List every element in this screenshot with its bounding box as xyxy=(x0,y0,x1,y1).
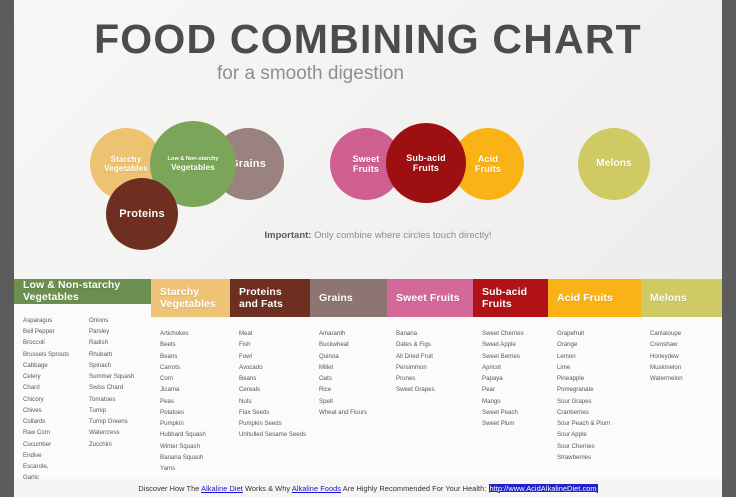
food-item: Cantaloupe xyxy=(650,328,722,339)
food-item: Unhulled Sesame Seeds xyxy=(239,429,310,440)
column-header-line1: Grains xyxy=(319,292,353,304)
footer-part3: Are Highly Recommended For Your Health: xyxy=(341,484,488,493)
column-header-starchy-vegetables: Starchy Vegetables xyxy=(151,279,230,317)
food-category-table: Low & Non-starchy Vegetables AsparagusBe… xyxy=(14,279,722,479)
column-header-melons: Melons xyxy=(641,279,722,317)
food-item: Nuts xyxy=(239,396,310,407)
food-item: Endive xyxy=(23,450,85,461)
food-item: Crenshaw xyxy=(650,339,722,350)
food-item: Carrots xyxy=(160,362,230,373)
food-list: GrapefruitOrangeLemonLimePineapplePomegr… xyxy=(557,328,641,463)
food-item: Honeydew xyxy=(650,351,722,362)
website-url-link[interactable]: http://www.AcidAlkalineDiet.com xyxy=(489,484,598,493)
circle-diagram: Starchy Vegetables Low & Non-starchy Veg… xyxy=(0,118,736,248)
food-item: Pomegranate xyxy=(557,384,641,395)
column-header-line1: Proteins xyxy=(239,286,282,298)
food-item: Lemon xyxy=(557,351,641,362)
column-body: Sweet CherriesSweet AppleSweet BerriesAp… xyxy=(473,317,548,479)
circle-label-line2: Vegetables xyxy=(168,163,219,172)
food-item: Cereals xyxy=(239,384,310,395)
food-item: Collards xyxy=(23,416,85,427)
food-item: Fowl xyxy=(239,351,310,362)
food-item: Lime xyxy=(557,362,641,373)
food-item: Beans xyxy=(160,351,230,362)
food-list: Sweet CherriesSweet AppleSweet BerriesAp… xyxy=(482,328,548,429)
column-body: CantaloupeCrenshawHoneydewMuskmelonWater… xyxy=(641,317,722,479)
circle-label-line2: Fruits xyxy=(353,164,379,174)
page-subtitle: for a smooth digestion xyxy=(0,63,736,85)
food-item: Spelt xyxy=(319,396,387,407)
food-item: Fish xyxy=(239,339,310,350)
column-sweet-fruits: Sweet Fruits BananaDates & FigsAll Dried… xyxy=(387,279,473,479)
important-note-label: Important: xyxy=(264,230,311,241)
page-gutter-left xyxy=(0,0,14,497)
circle-sub-acid-fruits[interactable]: Sub-acid Fruits xyxy=(386,123,466,203)
column-header-line1: Low & Non-starchy xyxy=(23,279,120,291)
food-item: Beets xyxy=(160,339,230,350)
food-item: Winter Squash xyxy=(160,441,230,452)
food-list: MeatFishFowlAvocadoBeansCerealsNutsFlax … xyxy=(239,328,310,441)
food-item: Sweet Apple xyxy=(482,339,548,350)
page-title: FOOD COMBINING CHART xyxy=(0,18,736,61)
food-item: Radish xyxy=(89,337,134,348)
food-item: Corn xyxy=(160,373,230,384)
column-starchy-vegetables: Starchy Vegetables ArtichokesBeetsBeansC… xyxy=(151,279,230,479)
food-item: Bell Pepper xyxy=(23,326,85,337)
column-body: AmaranthBuckwheatQuinoaMilletOatsRiceSpe… xyxy=(310,317,387,479)
food-list: CantaloupeCrenshawHoneydewMuskmelonWater… xyxy=(650,328,722,384)
circle-label-line1: Sub-acid xyxy=(406,153,446,163)
column-sub-acid-fruits: Sub-acid Fruits Sweet CherriesSweet Appl… xyxy=(473,279,548,479)
circle-label-line1: Acid xyxy=(478,154,498,164)
column-header-line2: Fruits xyxy=(482,298,512,310)
food-item: Peas xyxy=(160,396,230,407)
food-item: Dates & Figs xyxy=(396,339,473,350)
food-item: Orange xyxy=(557,339,641,350)
column-header-line2: Vegetables xyxy=(23,291,79,303)
food-item: All Dried Fruit xyxy=(396,351,473,362)
food-item: Sour Apple xyxy=(557,429,641,440)
food-item: Escarole, xyxy=(23,461,85,472)
alkaline-foods-link[interactable]: Alkaline Foods xyxy=(292,484,341,493)
alkaline-diet-link[interactable]: Alkaline Diet xyxy=(201,484,243,493)
food-item: Rhubarb xyxy=(89,349,134,360)
column-body: AsparagusBell PepperBroccoliBrussels Spr… xyxy=(14,304,151,497)
food-item: Mango xyxy=(482,396,548,407)
food-item: Zucchini xyxy=(89,439,134,450)
food-item: Chicory xyxy=(23,394,85,405)
footer-part1: Discover How The xyxy=(138,484,201,493)
circle-label-line2: Fruits xyxy=(413,163,439,173)
food-list: AsparagusBell PepperBroccoliBrussels Spr… xyxy=(23,315,85,497)
column-header-proteins-and-fats: Proteins and Fats xyxy=(230,279,310,317)
food-item: Persimmon xyxy=(396,362,473,373)
food-item: Prunes xyxy=(396,373,473,384)
food-item: Chard xyxy=(23,382,85,393)
column-body: ArtichokesBeetsBeansCarrotsCornJicamaPea… xyxy=(151,317,230,479)
food-item: Onions xyxy=(89,315,134,326)
column-body: MeatFishFowlAvocadoBeansCerealsNutsFlax … xyxy=(230,317,310,479)
column-header-sub-acid-fruits: Sub-acid Fruits xyxy=(473,279,548,317)
food-item: Swiss Chard xyxy=(89,382,134,393)
footer-part2: Works & Why xyxy=(243,484,292,493)
food-item: Asparagus xyxy=(23,315,85,326)
food-item: Banana Squash xyxy=(160,452,230,463)
food-item: Tomatoes xyxy=(89,394,134,405)
food-item: Brussels Sprouts xyxy=(23,349,85,360)
food-list: AmaranthBuckwheatQuinoaMilletOatsRiceSpe… xyxy=(319,328,387,418)
food-item: Pumpkin xyxy=(160,418,230,429)
column-header-line2: Vegetables xyxy=(160,298,216,310)
food-item: Muskmelon xyxy=(650,362,722,373)
column-proteins-and-fats: Proteins and Fats MeatFishFowlAvocadoBea… xyxy=(230,279,310,479)
column-body: GrapefruitOrangeLemonLimePineapplePomegr… xyxy=(548,317,641,479)
food-item: Sweet Grapes xyxy=(396,384,473,395)
column-header-line1: Melons xyxy=(650,292,687,304)
food-item: Parsley xyxy=(89,326,134,337)
food-item: Sweet Berries xyxy=(482,351,548,362)
food-item: Pineapple xyxy=(557,373,641,384)
food-item: Apricot xyxy=(482,362,548,373)
column-acid-fruits: Acid Fruits GrapefruitOrangeLemonLimePin… xyxy=(548,279,641,479)
food-item: Meat xyxy=(239,328,310,339)
column-header-grains: Grains xyxy=(310,279,387,317)
food-item: Artichokes xyxy=(160,328,230,339)
food-list: BananaDates & FigsAll Dried FruitPersimm… xyxy=(396,328,473,396)
column-header-line2: and Fats xyxy=(239,298,283,310)
food-item: Celery xyxy=(23,371,85,382)
food-item: Cranberries xyxy=(557,407,641,418)
circle-label-line2: Vegetables xyxy=(104,164,148,173)
food-item: Banana xyxy=(396,328,473,339)
food-item: Buckwheat xyxy=(319,339,387,350)
column-header-line1: Acid Fruits xyxy=(557,292,613,304)
food-item: Hubbard Squash xyxy=(160,429,230,440)
food-item: Raw Corn xyxy=(23,427,85,438)
food-item: Turnip Greens xyxy=(89,416,134,427)
page-footer: Discover How The Alkaline Diet Works & W… xyxy=(14,479,722,497)
food-item: Yams xyxy=(160,463,230,474)
page-gutter-right xyxy=(722,0,736,497)
circle-label-line1: Proteins xyxy=(119,208,165,221)
column-header-line1: Sub-acid xyxy=(482,286,527,298)
food-item: Flax Seeds xyxy=(239,407,310,418)
food-item: Watermelon xyxy=(650,373,722,384)
food-list: ArtichokesBeetsBeansCarrotsCornJicamaPea… xyxy=(160,328,230,474)
column-header-line1: Sweet Fruits xyxy=(396,292,460,304)
circle-label-line1: Melons xyxy=(596,158,632,170)
column-body: BananaDates & FigsAll Dried FruitPersimm… xyxy=(387,317,473,479)
food-item: Sweet Plum xyxy=(482,418,548,429)
food-item: Strawberries xyxy=(557,452,641,463)
food-item: Rice xyxy=(319,384,387,395)
food-item: Broccoli xyxy=(23,337,85,348)
food-item: Watercress xyxy=(89,427,134,438)
food-item: Beans xyxy=(239,373,310,384)
food-item: Cabbage xyxy=(23,360,85,371)
column-header-low-non-starchy-vegetables: Low & Non-starchy Vegetables xyxy=(14,279,151,304)
food-item: Amaranth xyxy=(319,328,387,339)
food-item: Avocado xyxy=(239,362,310,373)
food-item: Summer Squash xyxy=(89,371,134,382)
food-item: Sour Grapes xyxy=(557,396,641,407)
footer-text: Discover How The Alkaline Diet Works & W… xyxy=(138,484,597,493)
food-item: Pear xyxy=(482,384,548,395)
circle-label-line1: Low & Non-starchy xyxy=(168,156,219,162)
column-header-acid-fruits: Acid Fruits xyxy=(548,279,641,317)
food-item: Spinach xyxy=(89,360,134,371)
food-item: Sour Cherries xyxy=(557,441,641,452)
column-low-non-starchy-vegetables: Low & Non-starchy Vegetables AsparagusBe… xyxy=(14,279,151,479)
food-item: Wheat and Flours xyxy=(319,407,387,418)
food-item: Cucumber xyxy=(23,439,85,450)
circle-label-line2: Fruits xyxy=(475,164,501,174)
column-melons: Melons CantaloupeCrenshawHoneydewMuskmel… xyxy=(641,279,722,479)
column-header-line1: Starchy xyxy=(160,286,199,298)
food-item: Grapefruit xyxy=(557,328,641,339)
food-item: Chives xyxy=(23,405,85,416)
food-item: Potatoes xyxy=(160,407,230,418)
circle-label-line1: Starchy xyxy=(111,155,142,164)
column-header-sweet-fruits: Sweet Fruits xyxy=(387,279,473,317)
column-grains: Grains AmaranthBuckwheatQuinoaMilletOats… xyxy=(310,279,387,479)
circle-melons[interactable]: Melons xyxy=(578,128,650,200)
food-item: Turnip xyxy=(89,405,134,416)
food-item: Pumpkin Seeds xyxy=(239,418,310,429)
food-item: Sweet Peach xyxy=(482,407,548,418)
food-item: Papaya xyxy=(482,373,548,384)
food-item: Sour Peach & Plum xyxy=(557,418,641,429)
food-item: Millet xyxy=(319,362,387,373)
page-header: FOOD COMBINING CHART for a smooth digest… xyxy=(0,18,736,85)
food-list: OnionsParsleyRadishRhubarbSpinachSummer … xyxy=(89,315,134,497)
food-item: Quinoa xyxy=(319,351,387,362)
circle-proteins[interactable]: Proteins xyxy=(106,178,178,250)
food-item: Oats xyxy=(319,373,387,384)
food-item: Jicama xyxy=(160,384,230,395)
food-item: Sweet Cherries xyxy=(482,328,548,339)
circle-label-line1: Sweet xyxy=(352,154,379,164)
food-combining-chart-page: FOOD COMBINING CHART for a smooth digest… xyxy=(0,0,736,497)
important-note-text: Only combine where circles touch directl… xyxy=(311,230,491,241)
